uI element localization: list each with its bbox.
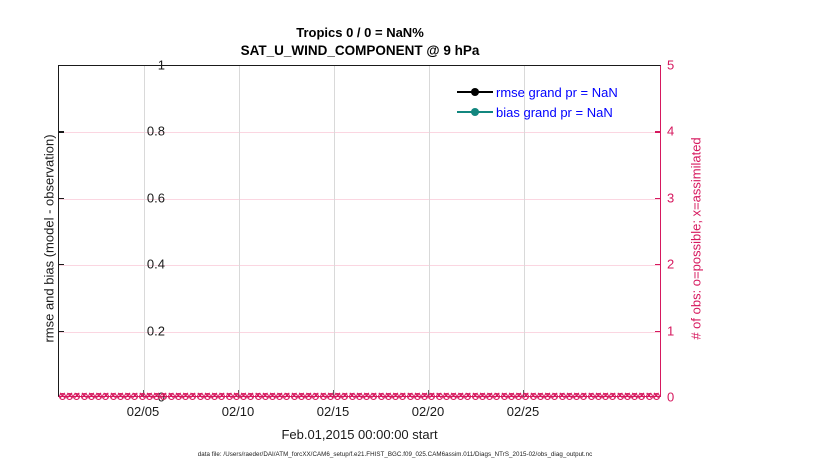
y-axis-tick-label-left: 0.8 bbox=[147, 124, 165, 139]
y-axis-tick-mark-right bbox=[655, 264, 661, 265]
x-axis-tick-mark bbox=[333, 390, 334, 397]
legend-item-rmse[interactable]: rmse grand pr = NaN bbox=[457, 82, 647, 102]
chart-subtitle: SAT_U_WIND_COMPONENT @ 9 hPa bbox=[0, 42, 720, 60]
y-axis-tick-label-right: 4 bbox=[667, 124, 674, 139]
legend-marker-bias-icon bbox=[457, 105, 493, 119]
gridline-vertical bbox=[429, 66, 430, 396]
x-axis-tick-mark bbox=[428, 390, 429, 397]
x-axis-tick-label: 02/20 bbox=[412, 404, 445, 419]
legend-label-bias: bias grand pr = NaN bbox=[496, 105, 613, 120]
y-axis-tick-label-left: 0.4 bbox=[147, 257, 165, 272]
y-axis-tick-mark-left bbox=[58, 198, 64, 199]
y-axis-tick-label-left: 1 bbox=[158, 58, 165, 73]
y-axis-tick-mark-left bbox=[58, 264, 64, 265]
x-axis-tick-label: 02/15 bbox=[317, 404, 350, 419]
y-axis-tick-mark-right bbox=[655, 131, 661, 132]
y-axis-tick-label-right: 3 bbox=[667, 190, 674, 205]
y-axis-tick-mark-left bbox=[58, 331, 64, 332]
y-axis-label-left: rmse and bias (model - observation) bbox=[42, 74, 57, 404]
x-axis-tick-mark bbox=[238, 390, 239, 397]
data-file-footer: data file: /Users/raeder/DAI/ATM_forcXX/… bbox=[0, 451, 790, 458]
x-axis-tick-mark bbox=[143, 390, 144, 397]
chart-title: Tropics 0 / 0 = NaN% bbox=[0, 24, 720, 42]
gridline-vertical bbox=[144, 66, 145, 396]
y-axis-tick-mark-right bbox=[655, 331, 661, 332]
chart-legend[interactable]: rmse grand pr = NaN bias grand pr = NaN bbox=[455, 80, 649, 124]
y-axis-tick-mark-right bbox=[655, 198, 661, 199]
y-axis-tick-label-left: 0.2 bbox=[147, 323, 165, 338]
y-axis-tick-mark-left bbox=[58, 131, 64, 132]
legend-item-bias[interactable]: bias grand pr = NaN bbox=[457, 102, 647, 122]
gridline-vertical bbox=[239, 66, 240, 396]
y-axis-tick-label-right: 1 bbox=[667, 323, 674, 338]
x-axis-tick-label: 02/05 bbox=[127, 404, 160, 419]
y-axis-tick-label-right: 0 bbox=[667, 390, 674, 405]
legend-label-rmse: rmse grand pr = NaN bbox=[496, 85, 618, 100]
x-axis-tick-label: 02/25 bbox=[507, 404, 540, 419]
legend-marker-rmse-icon bbox=[457, 85, 493, 99]
y-axis-tick-label-left: 0.6 bbox=[147, 190, 165, 205]
figure-canvas: Tropics 0 / 0 = NaN% SAT_U_WIND_COMPONEN… bbox=[0, 0, 830, 470]
y-axis-tick-label-left: 0 bbox=[158, 390, 165, 405]
y-axis-tick-label-right: 5 bbox=[667, 58, 674, 73]
x-axis-label: Feb.01,2015 00:00:00 start bbox=[58, 427, 661, 442]
chart-title-block: Tropics 0 / 0 = NaN% SAT_U_WIND_COMPONEN… bbox=[0, 24, 720, 60]
x-axis-tick-mark bbox=[523, 390, 524, 397]
gridline-vertical bbox=[334, 66, 335, 396]
y-axis-tick-label-right: 2 bbox=[667, 257, 674, 272]
x-axis-tick-label: 02/10 bbox=[222, 404, 255, 419]
y-axis-label-right: # of obs: o=possible; x=assimilated bbox=[689, 74, 704, 404]
